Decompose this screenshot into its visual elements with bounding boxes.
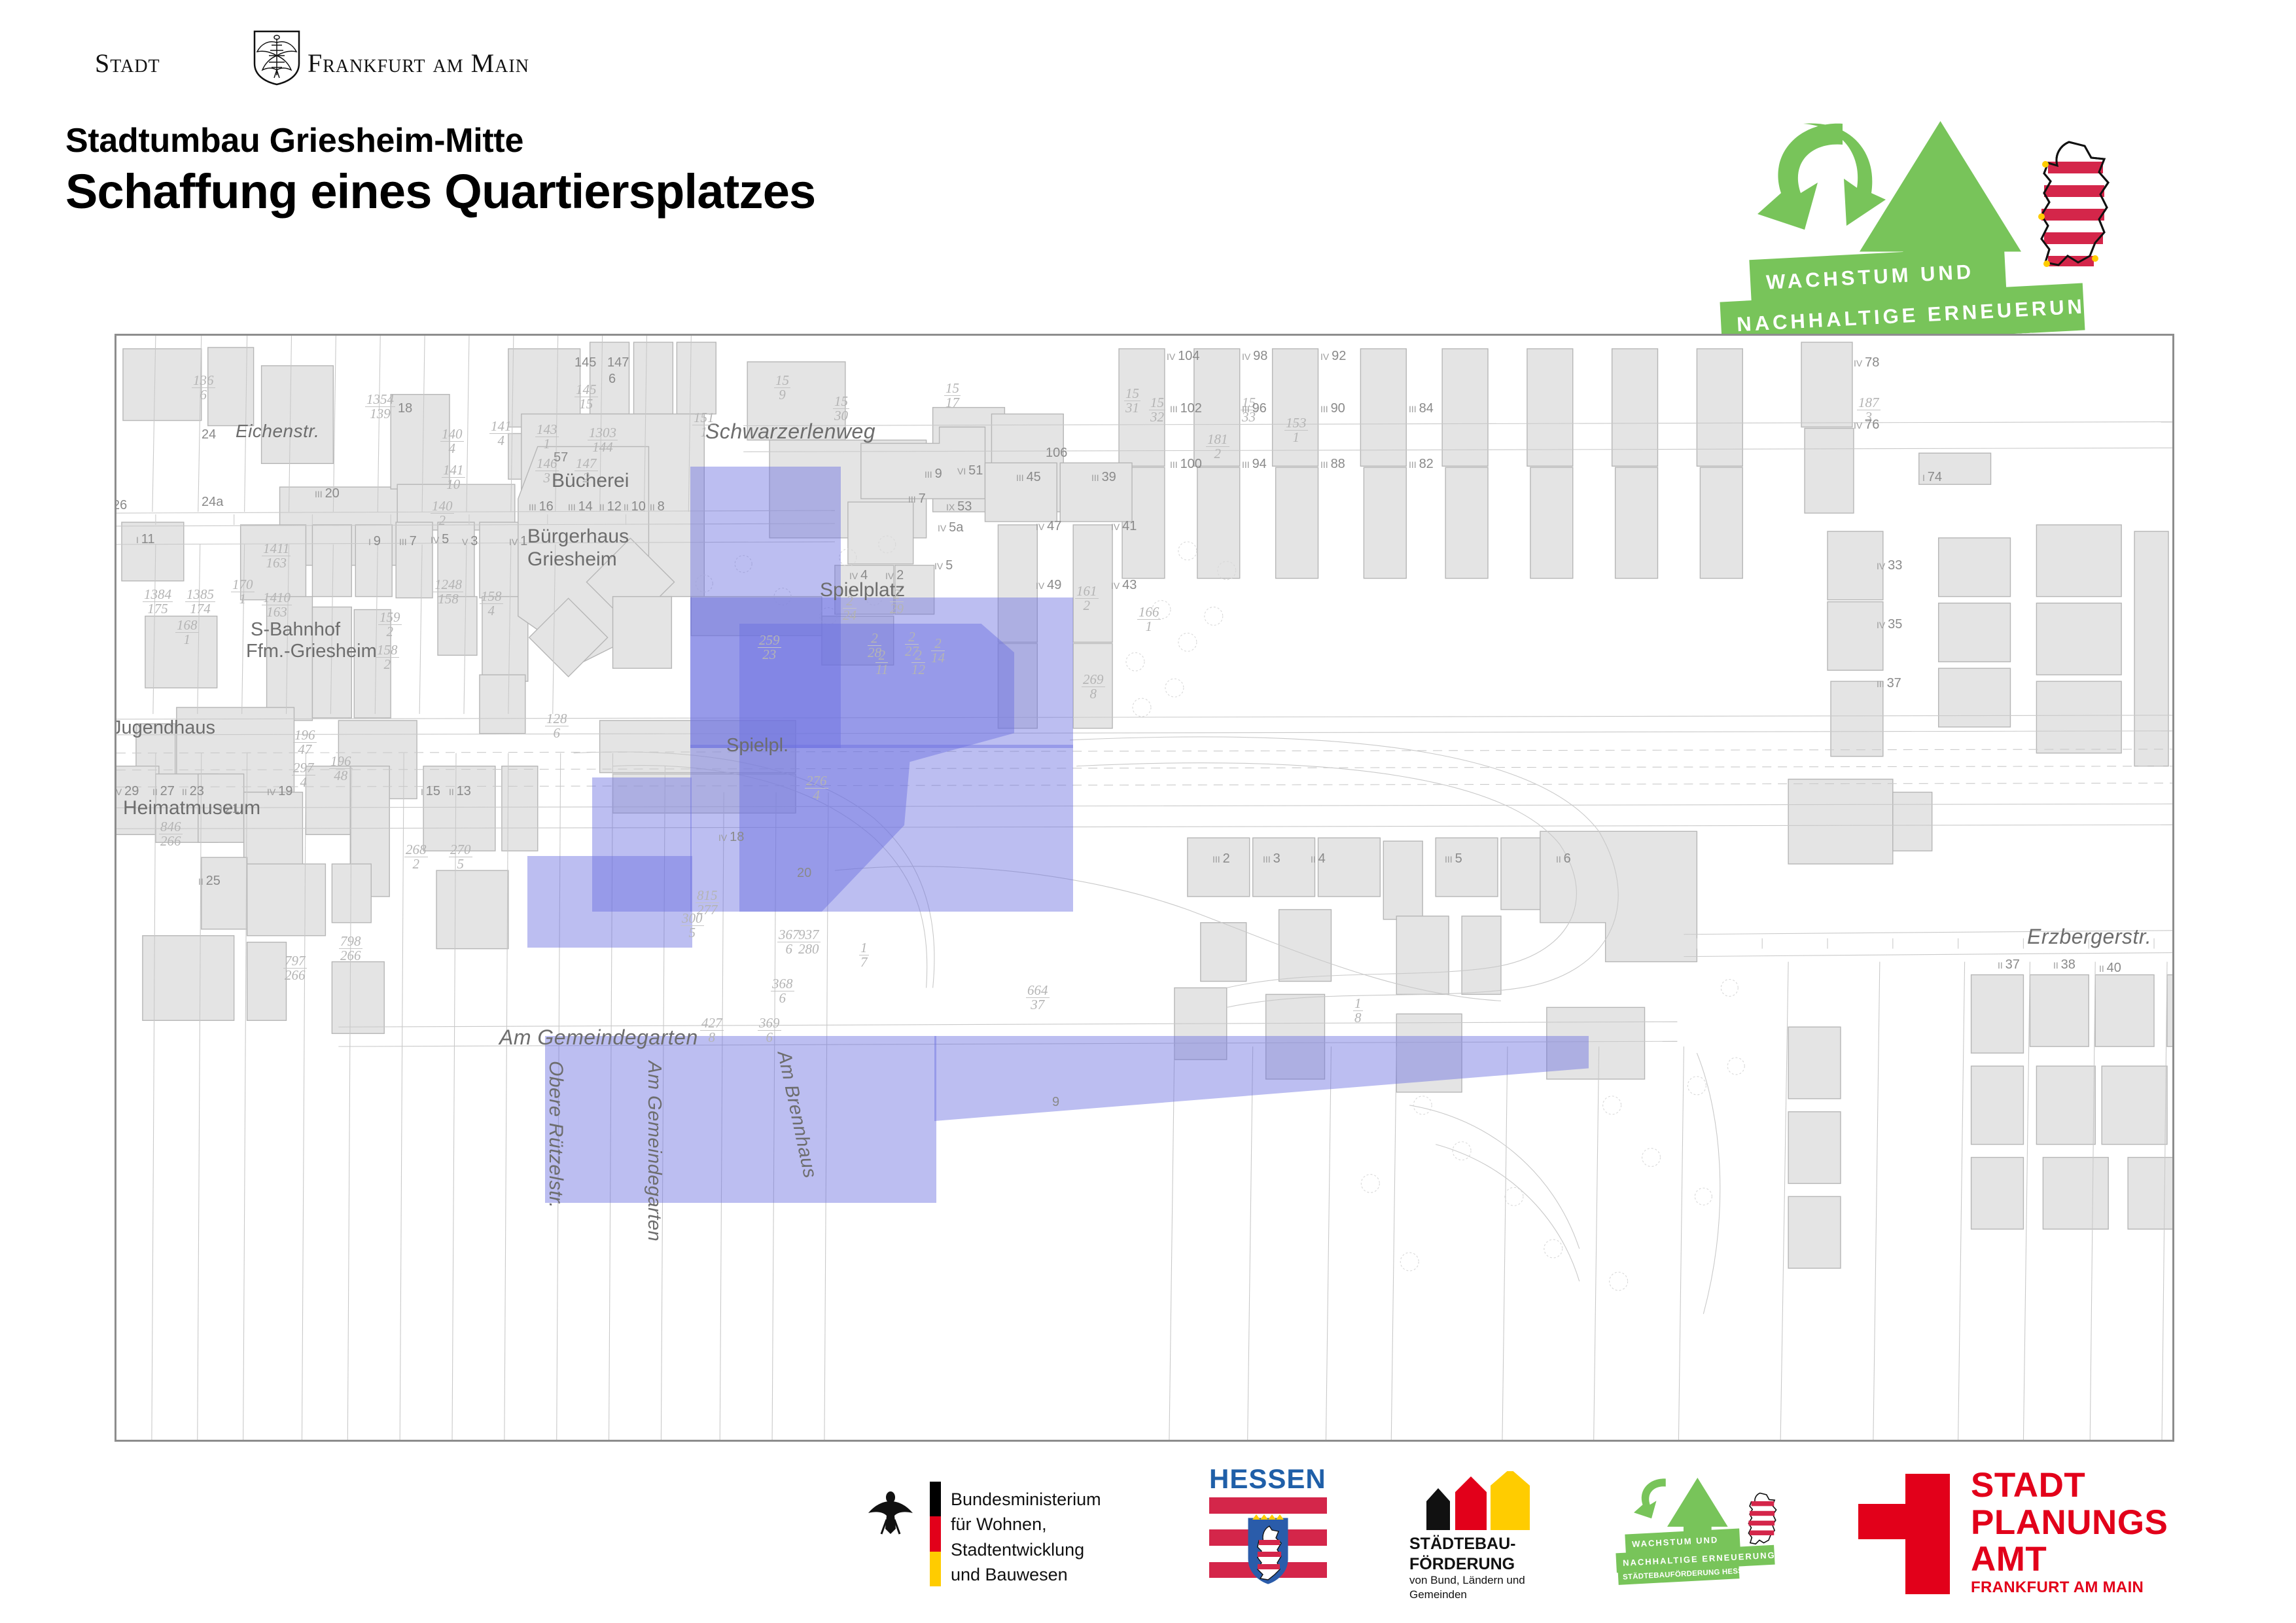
house-number: IV 92: [1320, 349, 1346, 364]
city-logo-text-right: Frankfurt am Main: [308, 48, 529, 79]
street-label: Am Gemeindegarten: [643, 1061, 665, 1241]
sp-line2: PLANUNGS: [1971, 1505, 2168, 1542]
house-number: II 4: [1311, 851, 1326, 866]
parcel-number: 2698: [1082, 673, 1105, 702]
hessen-title: HESSEN: [1209, 1463, 1326, 1495]
hessen-lion-icon: [2022, 134, 2120, 278]
house-number: IV 19: [267, 784, 292, 799]
parcel-number: 798266: [339, 935, 362, 963]
parcel-number: 1354139: [365, 393, 395, 421]
street-label: Eichenstr.: [236, 421, 319, 442]
parcel-number: 1681: [175, 618, 199, 647]
poi-label: S-Bahnhof: [251, 619, 340, 641]
street-label: Erzbergerstr.: [2027, 925, 2151, 949]
parcel-number: 1402: [431, 499, 454, 528]
staedtebau-line2: FÖRDERUNG: [1409, 1554, 1516, 1575]
house-number: II 40: [2099, 961, 2121, 976]
house-number: I 74: [1922, 470, 1942, 485]
parcel-number: 159: [774, 374, 790, 402]
parcel-number: 1701: [231, 578, 255, 607]
house-number: III 3: [1263, 851, 1280, 866]
house-number: IV 104: [1167, 349, 1200, 364]
hessen-flag-icon: [1209, 1497, 1327, 1594]
poi-label: Spielpl.: [726, 735, 788, 757]
parcel-number: 1248158: [433, 578, 463, 607]
parcel-number: 846266: [159, 820, 183, 849]
parcel-number: 1511: [692, 411, 716, 440]
quartiersplatz-highlight-zone: [545, 1036, 936, 1203]
house-number: IV 76: [1854, 418, 1879, 433]
parcel-number: 25923: [758, 633, 781, 662]
parcel-number: 1366: [192, 374, 215, 402]
staedtebau-sub2: Gemeinden: [1409, 1588, 1525, 1602]
house-number: 145: [574, 355, 596, 370]
parcel-number: 66437: [1026, 984, 1050, 1012]
staedtebaufoerderung-logo: STÄDTEBAU- FÖRDERUNG von Bund, Ländern u…: [1400, 1471, 1583, 1596]
bmwsb-line2: für Wohnen, Stadtentwicklung: [951, 1512, 1174, 1562]
house-number: IV 5a: [938, 520, 963, 535]
frankfurt-f-mark-icon: [1858, 1470, 1950, 1594]
house-number: III 9: [925, 467, 942, 482]
house-number: IV 43: [1111, 578, 1137, 593]
house-number: I 11: [136, 532, 155, 547]
bundesadler-icon: [867, 1487, 914, 1538]
house-number: III 82: [1409, 457, 1434, 472]
stadtplanungsamt-text: STADT PLANUNGS AMT: [1971, 1467, 2168, 1578]
bundesministerium-logo: Bundesministerium für Wohnen, Stadtentwi…: [867, 1474, 1174, 1588]
house-number: I 9: [368, 534, 381, 549]
house-number: IV 47: [1036, 519, 1061, 534]
parcel-number: 212: [911, 649, 925, 677]
bmwsb-line1: Bundesministerium: [951, 1487, 1174, 1512]
house-number: IV 98: [1242, 349, 1267, 364]
stadtplanungsamt-logo: STADT PLANUNGS AMT FRANKFURT AM MAIN: [1858, 1470, 2212, 1601]
parcel-number: 1472: [574, 457, 598, 486]
house-number: 6: [609, 372, 616, 387]
house-number: IV 18: [718, 830, 744, 845]
staedtebau-subtext: von Bund, Ländern und Gemeinden: [1409, 1573, 1525, 1602]
parcel-number: 1384175: [143, 588, 173, 616]
staedtebau-sub1: von Bund, Ländern und: [1409, 1573, 1525, 1588]
parcel-number: 1411163: [262, 542, 291, 571]
house-number: IV 5: [934, 558, 953, 573]
parcel-number: 4278: [700, 1016, 724, 1045]
house-number: II 13: [449, 784, 471, 799]
house-number: IV 35: [1877, 617, 1902, 632]
parcel-number: 18: [1353, 997, 1363, 1026]
page-header: Stadt Frankfurt am Main Stadtumbau Gries…: [0, 0, 2296, 308]
parcel-number: 1661: [1137, 605, 1161, 634]
poi-label: Jugendhaus: [115, 717, 215, 739]
german-flag-bar: [930, 1482, 941, 1586]
parcel-number: 1582: [376, 643, 399, 672]
parcel-number: 3005: [680, 912, 704, 940]
parcel-number: 14110: [442, 463, 465, 492]
house-number: IX 53: [946, 499, 972, 514]
stadt-frankfurt-logo: Stadt Frankfurt am Main: [95, 36, 520, 88]
house-number: III 14: [568, 499, 593, 514]
parcel-number: 14515: [574, 383, 598, 412]
house-number: 9: [1052, 1095, 1059, 1110]
house-number: III 100: [1170, 457, 1202, 472]
house-number: II 27: [152, 784, 175, 799]
house-number: III 37: [1877, 676, 1901, 691]
parcel-number: 229: [890, 588, 904, 616]
parcel-number: 1517: [944, 382, 961, 410]
parcel-number: 19648: [329, 755, 353, 783]
parcel-number: 1612: [1075, 584, 1099, 613]
house-number: IV 41: [1111, 519, 1137, 534]
staedtebau-line1: STÄDTEBAU-: [1409, 1534, 1516, 1554]
parcel-number: 224: [843, 594, 857, 623]
parcel-number: 2974: [292, 761, 315, 790]
house-number: II 12: [599, 499, 622, 514]
house-number: I 21: [220, 802, 239, 817]
parcel-number: 797266: [283, 954, 307, 983]
house-number: III 88: [1320, 457, 1345, 472]
bundesministerium-text: Bundesministerium für Wohnen, Stadtentwi…: [951, 1487, 1174, 1587]
house-number: IV 2: [885, 568, 904, 583]
parcel-number: 1410163: [262, 591, 292, 620]
bmwsb-line3: und Bauwesen: [951, 1562, 1174, 1587]
parcel-number: 2682: [404, 843, 428, 872]
house-number: 24: [202, 427, 216, 442]
parcel-number: 1286: [545, 712, 569, 741]
house-number: III 45: [1016, 470, 1041, 485]
street-label: Am Gemeindegarten: [499, 1026, 698, 1050]
sp-line1: STADT: [1971, 1467, 2168, 1505]
parcel-number: 1531: [1124, 387, 1140, 416]
house-number: IV 1: [509, 534, 527, 549]
house-number: III 39: [1091, 470, 1116, 485]
parcel-number: 3696: [758, 1016, 781, 1045]
house-number: III 96: [1242, 401, 1267, 416]
house-number: II 23: [182, 784, 204, 799]
frankfurt-eagle-icon: [252, 29, 302, 86]
house-number: III 7: [399, 534, 417, 549]
three-houses-icon: [1421, 1471, 1539, 1530]
poi-label: Griesheim: [527, 548, 617, 571]
parcel-number: 1531: [1284, 416, 1308, 445]
house-number: 57: [554, 450, 568, 465]
parcel-number: 1431: [535, 423, 559, 452]
wachstum-logo-small: WACHSTUM UND NACHHALTIGE ERNEUERUNG STÄD…: [1616, 1471, 1832, 1596]
parcel-number: 1532: [1149, 396, 1165, 425]
street-label: Obere Rützelstr.: [544, 1061, 567, 1208]
parcel-number: 211: [875, 649, 888, 677]
house-number: II 25: [198, 874, 221, 889]
house-number: I 15: [421, 784, 440, 799]
house-number: III 84: [1409, 401, 1434, 416]
house-number: III 7: [908, 491, 926, 507]
house-number: III 94: [1242, 457, 1267, 472]
parcel-number: 1530: [833, 395, 849, 423]
page-title: Schaffung eines Quartiersplatzes: [65, 164, 815, 219]
staedtebau-text: STÄDTEBAU- FÖRDERUNG: [1409, 1534, 1516, 1575]
house-number: V 3: [462, 534, 478, 549]
parcel-number: 1812: [1206, 433, 1229, 461]
poi-label: Ffm.-Griesheim: [246, 641, 377, 662]
house-number: II 8: [650, 499, 665, 514]
house-number: III 2: [1212, 851, 1230, 866]
house-number: 147: [607, 355, 629, 370]
house-number: 20: [797, 866, 811, 881]
house-number: 18: [398, 401, 412, 416]
street-label: Schwarzerlenweg: [705, 419, 875, 444]
house-number: 106: [1046, 446, 1067, 461]
parcel-number: 1584: [480, 590, 503, 618]
page-subtitle: Stadtumbau Griesheim-Mitte: [65, 121, 523, 160]
house-number: III 90: [1320, 401, 1345, 416]
house-number: IV 5: [431, 532, 449, 547]
house-number: II 37: [1998, 957, 2020, 972]
sp-line3: AMT: [1971, 1541, 2168, 1578]
parcel-number: 3686: [771, 977, 794, 1006]
parcel-number: 2764: [805, 774, 828, 803]
quartiersplatz-highlight-zone: [527, 856, 692, 948]
parcel-number: 19647: [293, 728, 317, 757]
parcel-number: 1592: [378, 611, 402, 639]
parcel-number: 214: [931, 637, 945, 666]
house-number: II 6: [1556, 851, 1571, 866]
parcel-number: 1385174: [185, 588, 215, 616]
parcel-number: 1303144: [588, 426, 618, 455]
house-number: III 16: [529, 499, 554, 514]
house-number: III 5: [1445, 851, 1462, 866]
hessen-lion-icon-small: [1740, 1489, 1781, 1550]
parcel-number: 1414: [489, 419, 513, 448]
house-number: II 38: [2053, 957, 2075, 972]
house-number: IV 4: [849, 568, 868, 583]
sp-subtitle: FRANKFURT AM MAIN: [1971, 1578, 2144, 1597]
parcel-number: 2705: [449, 843, 472, 872]
house-number: IV 78: [1854, 355, 1879, 370]
hessen-logo: HESSEN: [1204, 1466, 1335, 1597]
funding-logo-bar: Bundesministerium für Wohnen, Stadtentwi…: [0, 1459, 2296, 1623]
parcel-number: 17: [859, 941, 869, 970]
cadastral-map[interactable]: Eichenstr.SchwarzerlenwegAm Gemeindegart…: [115, 334, 2174, 1442]
house-number: II 10: [624, 499, 646, 514]
house-number: III 102: [1170, 401, 1202, 416]
house-number: IV 49: [1036, 578, 1061, 593]
city-logo-text-left: Stadt: [95, 48, 160, 79]
house-number: 26: [115, 498, 127, 513]
house-number: III 20: [315, 486, 340, 501]
house-number: VI 51: [957, 463, 983, 478]
parcel-number: 3676: [777, 928, 801, 957]
house-number: 24a: [202, 495, 223, 510]
house-number: IV 29: [115, 784, 139, 799]
house-number: IV 33: [1877, 558, 1902, 573]
poi-label: Heimatmuseum: [123, 797, 260, 819]
map-vector-layer: [116, 336, 2172, 1440]
poi-label: Bürgerhaus: [527, 526, 629, 548]
parcel-number: 1404: [440, 427, 464, 456]
